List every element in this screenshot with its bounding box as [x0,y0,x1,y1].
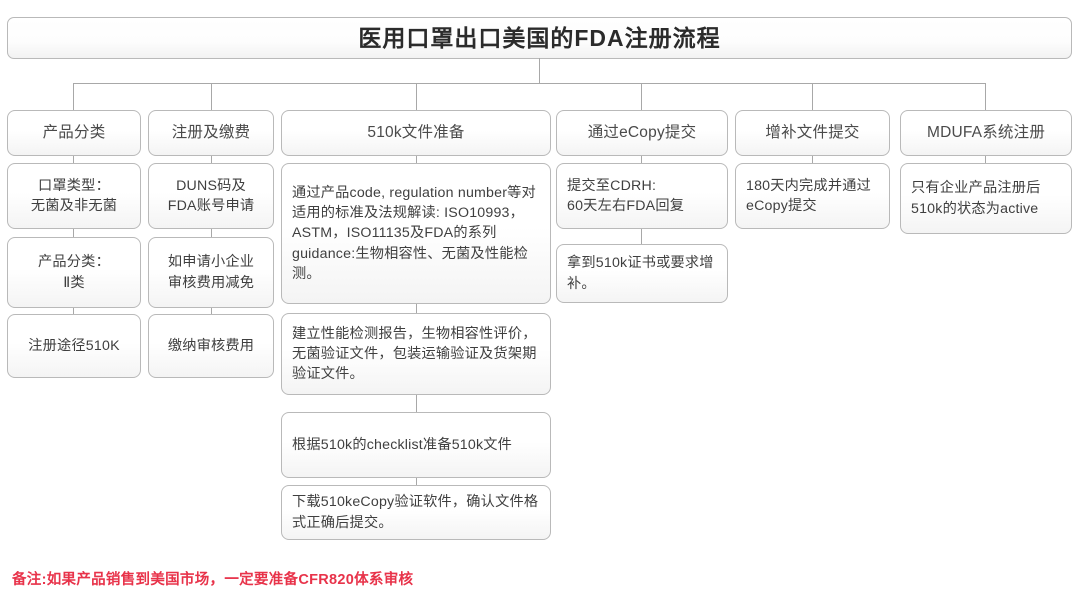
connector-drop-col-1 [73,83,74,110]
connector-drop-col-4 [641,83,642,110]
node-c1-item-2-text: 产品分类： Ⅱ类 [18,252,130,292]
connector-c6-h-b1 [985,156,986,163]
node-c3-item-3[interactable]: 根据510k的checklist准备510k文件 [281,412,551,478]
connector-title-stem [539,58,540,83]
node-c2-item-1-text: DUNS码及 FDA账号申请 [159,176,263,216]
column-header-registration-and-fees[interactable]: 注册及缴费 [148,110,274,156]
connector-c2-h-b1 [211,156,212,163]
flowchart-canvas: 医用口罩出口美国的FDA注册流程 产品分类 口罩类型： 无菌及非无菌 产品分类：… [0,0,1080,599]
node-c4-item-1-text: 提交至CDRH: 60天左右FDA回复 [567,176,717,216]
footnote-note: 备注:如果产品销售到美国市场，一定要准备CFR820体系审核 [12,568,413,589]
column-header-supplementary-document-submission[interactable]: 增补文件提交 [735,110,890,156]
connector-c4-h-b1 [641,156,642,163]
connector-c1-b1-b2 [73,229,74,237]
node-c2-item-3[interactable]: 缴纳审核费用 [148,314,274,378]
connector-c3-b1-b2 [416,304,417,313]
node-c3-item-4[interactable]: 下载510keCopy验证软件，确认文件格式正确后提交。 [281,485,551,540]
node-c3-item-2-text: 建立性能检测报告，生物相容性评价，无菌验证文件，包装运输验证及货架期验证文件。 [292,324,540,384]
node-c6-item-1-text: 只有企业产品注册后510k的状态为active [911,178,1061,218]
node-c1-item-2[interactable]: 产品分类： Ⅱ类 [7,237,141,308]
column-header-510k-document-preparation[interactable]: 510k文件准备 [281,110,551,156]
node-c1-item-1-text: 口罩类型： 无菌及非无菌 [18,176,130,216]
node-c3-item-1-text: 通过产品code, regulation number等对适用的标准及法规解读:… [292,183,540,284]
connector-c3-b2-b3 [416,395,417,412]
diagram-title: 医用口罩出口美国的FDA注册流程 [7,17,1072,59]
connector-header-bus [73,83,986,84]
node-c3-item-2[interactable]: 建立性能检测报告，生物相容性评价，无菌验证文件，包装运输验证及货架期验证文件。 [281,313,551,395]
node-c3-item-1[interactable]: 通过产品code, regulation number等对适用的标准及法规解读:… [281,163,551,304]
connector-c3-h-b1 [416,156,417,163]
node-c4-item-2[interactable]: 拿到510k证书或要求增补。 [556,244,728,303]
node-c2-item-2[interactable]: 如申请小企业 审核费用减免 [148,237,274,308]
node-c1-item-3[interactable]: 注册途径510K [7,314,141,378]
connector-drop-col-6 [985,83,986,110]
connector-c1-h-b1 [73,156,74,163]
column-header-product-classification[interactable]: 产品分类 [7,110,141,156]
connector-c3-b3-b4 [416,478,417,485]
node-c1-item-3-text: 注册途径510K [18,336,130,356]
node-c2-item-2-text: 如申请小企业 审核费用减免 [159,252,263,292]
node-c5-item-1[interactable]: 180天内完成并通过eCopy提交 [735,163,890,229]
connector-drop-col-3 [416,83,417,110]
node-c3-item-3-text: 根据510k的checklist准备510k文件 [292,435,540,455]
column-header-submit-via-ecopy[interactable]: 通过eCopy提交 [556,110,728,156]
node-c1-item-1[interactable]: 口罩类型： 无菌及非无菌 [7,163,141,229]
node-c5-item-1-text: 180天内完成并通过eCopy提交 [746,176,879,216]
column-header-mdufa-system-registration[interactable]: MDUFA系统注册 [900,110,1072,156]
node-c3-item-4-text: 下载510keCopy验证软件，确认文件格式正确后提交。 [292,492,540,532]
node-c2-item-1[interactable]: DUNS码及 FDA账号申请 [148,163,274,229]
connector-drop-col-2 [211,83,212,110]
connector-c5-h-b1 [812,156,813,163]
connector-c4-b1-b2 [641,229,642,244]
node-c4-item-1[interactable]: 提交至CDRH: 60天左右FDA回复 [556,163,728,229]
connector-drop-col-5 [812,83,813,110]
node-c4-item-2-text: 拿到510k证书或要求增补。 [567,253,717,293]
connector-c2-b1-b2 [211,229,212,237]
node-c6-item-1[interactable]: 只有企业产品注册后510k的状态为active [900,163,1072,234]
node-c2-item-3-text: 缴纳审核费用 [159,336,263,356]
